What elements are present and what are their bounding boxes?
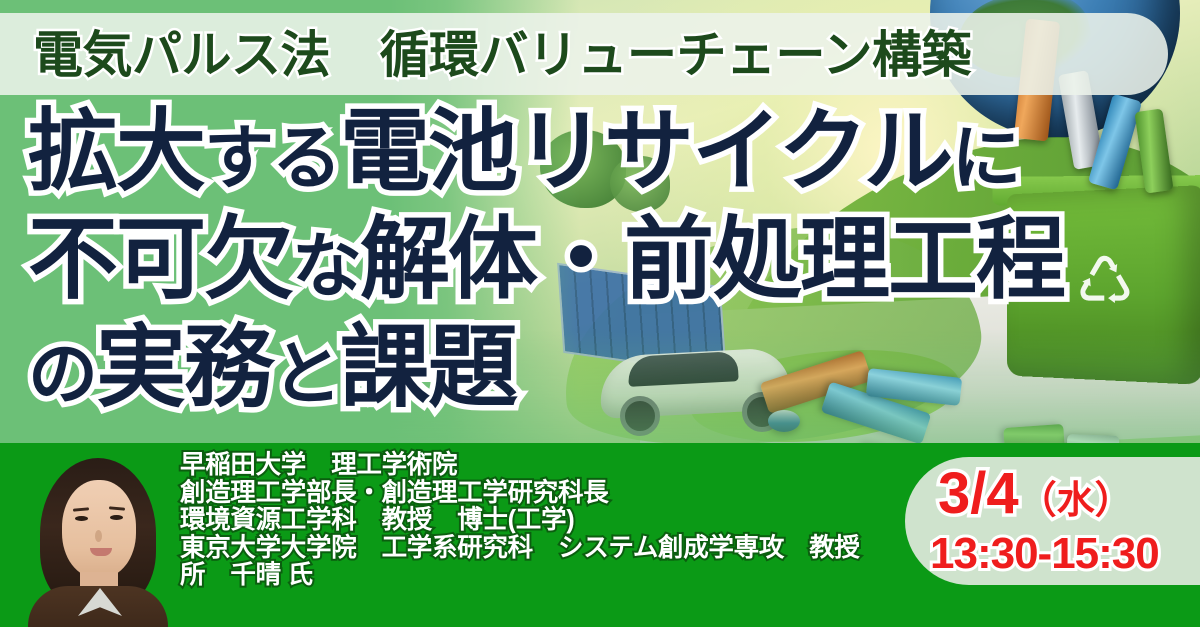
headline-seg-large: 実務 (96, 318, 272, 418)
portrait-face (62, 480, 136, 578)
headline-line-1: 拡大する電池リサイクルに (28, 98, 1020, 212)
kicker-text: 電気パルス法 循環バリューチェーン構築 (33, 19, 1153, 91)
headline-seg-small: する (204, 119, 340, 197)
headline-line-2: 不可欠な解体・前処理工程 (28, 206, 1064, 320)
schedule-time: 13:30-15:30 (930, 528, 1200, 580)
speaker-info: 早稲田大学 理工学術院 創造理工学部長・創造理工学研究科長 環境資源工学科 教授… (180, 452, 900, 590)
headline-seg-small: な (292, 227, 360, 305)
headline-seg-small: の (28, 335, 96, 413)
headline-seg-large: 課題 (340, 318, 516, 418)
seminar-banner: ♺ 電気パルス法 循環バリューチェーン構築 拡大する電池リサイクルに 不可欠な解… (0, 0, 1200, 627)
speaker-affiliation-3: 環境資源工学科 教授 博士(工学) (180, 507, 900, 535)
schedule-date-value: 3/4 (938, 461, 1019, 526)
portrait-nose (95, 530, 102, 542)
headline-seg-small: と (272, 335, 340, 413)
headline-seg-large: 拡大 (28, 102, 204, 202)
speaker-name: 所 千晴 氏 (180, 562, 900, 590)
speaker-affiliation-4: 東京大学大学院 工学系研究科 システム創成学専攻 教授 (180, 535, 900, 563)
portrait-eye (75, 516, 88, 521)
headline-line-3: の実務と課題 (28, 314, 516, 428)
headline-seg-large: 解体・前処理工程 (360, 210, 1064, 310)
speaker-affiliation-2: 創造理工学部長・創造理工学研究科長 (180, 480, 900, 508)
headline-block: 拡大する電池リサイクルに 不可欠な解体・前処理工程 の実務と課題 (0, 98, 1200, 438)
portrait-eye (110, 515, 123, 520)
headline-seg-small: に (952, 119, 1020, 197)
schedule-day-of-week: （水） (1019, 480, 1133, 522)
speaker-affiliation-1: 早稲田大学 理工学術院 (180, 452, 900, 480)
speaker-portrait (22, 446, 172, 627)
headline-seg-large: 電池リサイクル (340, 102, 952, 202)
schedule-date: 3/4（水） (938, 459, 1200, 529)
headline-seg-large: 不可欠 (28, 210, 292, 310)
